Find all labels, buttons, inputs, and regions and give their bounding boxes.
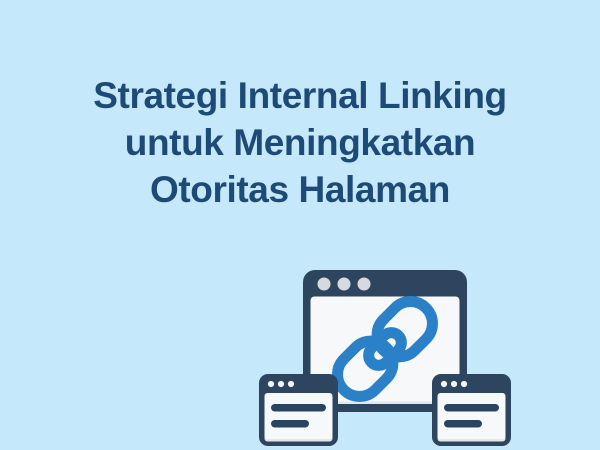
left-window-titlebar-dots [268,381,294,387]
window-dot-icon [461,381,467,387]
window-dot-icon [268,381,274,387]
child-page-window-right[interactable] [432,374,511,446]
page-title-line-3: Otoritas Halaman [0,166,600,213]
right-window-titlebar-dots [441,381,467,387]
page-title: Strategi Internal Linking untuk Meningka… [0,72,600,213]
left-window-text-bar-short [271,420,309,428]
window-dot-icon [278,381,284,387]
internal-linking-illustration [240,226,530,450]
window-dot-icon [338,278,351,291]
page-title-line-2: untuk Meningkatkan [0,119,600,166]
page-title-line-1: Strategi Internal Linking [0,72,600,119]
child-page-window-left[interactable] [259,374,338,446]
internal-linking-svg [240,226,530,450]
window-dot-icon [451,381,457,387]
main-window-titlebar-dots [318,278,371,291]
left-window-content [265,393,333,439]
right-window-content [438,393,506,439]
left-window-text-bar-long [271,404,326,412]
right-window-text-bar-long [444,404,499,412]
right-window-text-bar-short [444,420,482,428]
window-dot-icon [441,381,447,387]
window-dot-icon [358,278,371,291]
window-dot-icon [318,278,331,291]
poster-canvas: Strategi Internal Linking untuk Meningka… [0,0,600,450]
window-dot-icon [288,381,294,387]
